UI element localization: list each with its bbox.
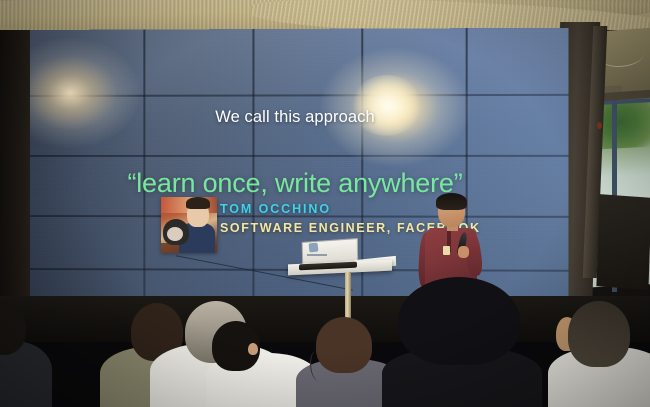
column-marker-icon [597, 122, 602, 129]
slide-kicker: We call this approach [30, 108, 560, 127]
audience-member-ear [248, 343, 258, 355]
speaker-badge [443, 246, 450, 255]
audience-member-head [316, 317, 372, 373]
slide-quote: “learn once, write anywhere” [30, 168, 560, 199]
left-wall [0, 30, 34, 330]
speaker-headshot-thumbnail [161, 197, 217, 253]
slide-byline: TOM OCCHINO SOFTWARE ENGINEER, FACEBOOK [220, 202, 520, 235]
laptop-screen-text [307, 254, 327, 256]
speaker-right-hand [458, 246, 469, 258]
laptop-logo-icon [309, 243, 319, 253]
speaker-hair [436, 193, 467, 210]
conference-photo-scene: We call this approach “learn once, write… [0, 0, 650, 407]
speaker-name: TOM OCCHINO [220, 202, 520, 216]
lower-wall-panel [596, 194, 650, 290]
audience-member-head [398, 277, 520, 365]
audience-member-head [568, 301, 630, 367]
